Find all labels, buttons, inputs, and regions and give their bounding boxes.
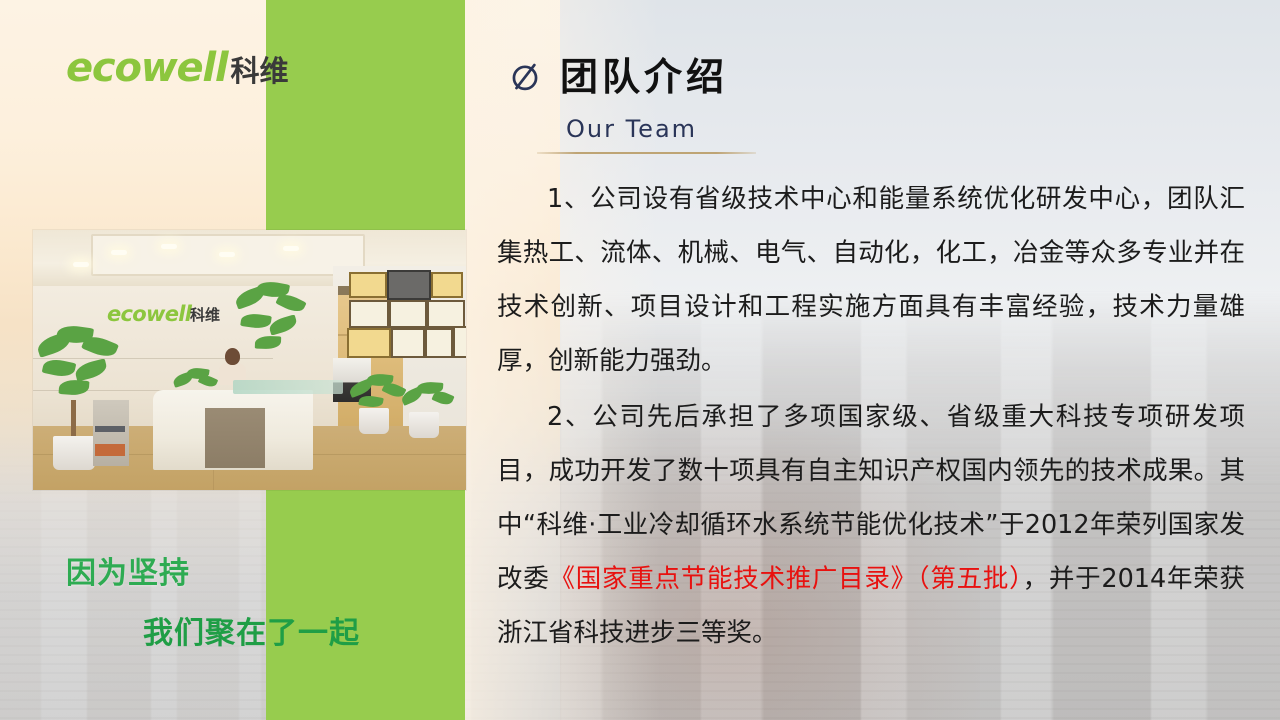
office-reception-photo: ecowell 科维 — [33, 230, 466, 490]
photo-certificate-frame — [453, 326, 466, 358]
photo-ceiling-light — [111, 250, 127, 255]
photo-floor-plant — [349, 372, 403, 412]
photo-desk-panel — [205, 408, 265, 468]
photo-ceiling-light — [219, 252, 235, 257]
section-header: 团队介绍 — [508, 58, 728, 96]
photo-floor-plant-pot — [409, 412, 439, 438]
slogan-line-2: 我们聚在了一起 — [143, 608, 360, 652]
slide-canvas: ecowell 科维 ecowell 科维 — [0, 0, 1280, 720]
paragraph-2-number: 2、 — [547, 402, 592, 432]
company-logo: ecowell 科维 — [66, 48, 288, 88]
slogan-line-1: 因为坚持 — [66, 548, 190, 592]
photo-certificate-frame — [387, 270, 431, 300]
photo-certificate-frame — [349, 272, 387, 298]
photo-certificate-frame — [347, 328, 391, 358]
photo-ceiling-light — [283, 246, 299, 251]
photo-plant-pot — [53, 436, 95, 470]
photo-ceiling-light — [161, 244, 177, 249]
photo-shelf-items — [95, 444, 125, 456]
logo-chinese-name: 科维 — [230, 57, 288, 86]
paragraph-1: 1、公司设有省级技术中心和能量系统优化研发中心，团队汇集热工、流体、机械、电气、… — [497, 172, 1245, 388]
photo-certificate-frame — [389, 300, 427, 328]
paragraph-2: 2、公司先后承担了多项国家级、省级重大科技专项研发项目，成功开发了数十项具有自主… — [497, 390, 1245, 660]
paragraph-1-text: 公司设有省级技术中心和能量系统优化研发中心，团队汇集热工、流体、机械、电气、自动… — [497, 184, 1245, 376]
logo-wordmark: ecowell — [66, 48, 227, 88]
photo-shelf-items — [95, 426, 125, 432]
photo-wall-logo-wordmark: ecowell — [107, 304, 191, 325]
slashed-circle-icon — [508, 60, 542, 94]
photo-certificate-frame — [427, 300, 465, 328]
photo-side-shelf — [93, 400, 129, 466]
photo-wall-logo-chinese: 科维 — [190, 308, 220, 323]
photo-floor-plant-pot — [359, 408, 389, 434]
photo-certificate-frame — [431, 272, 463, 298]
photo-plant-center — [229, 282, 309, 362]
page-subtitle: Our Team — [566, 115, 697, 143]
paragraph-1-number: 1、 — [547, 184, 590, 214]
page-title: 团队介绍 — [560, 58, 728, 96]
subtitle-divider — [537, 152, 756, 154]
photo-receptionist-head — [225, 348, 240, 365]
body-text-block: 1、公司设有省级技术中心和能量系统优化研发中心，团队汇集热工、流体、机械、电气、… — [497, 172, 1245, 660]
photo-ceiling-light — [73, 262, 89, 267]
photo-certificate-frame — [391, 328, 425, 358]
photo-certificate-frame — [349, 300, 389, 328]
photo-desk-glass-top — [233, 380, 343, 394]
paragraph-2-highlight: 《国家重点节能技术推广目录》（第五批） — [550, 564, 1023, 594]
photo-certificate-frame — [425, 328, 453, 358]
